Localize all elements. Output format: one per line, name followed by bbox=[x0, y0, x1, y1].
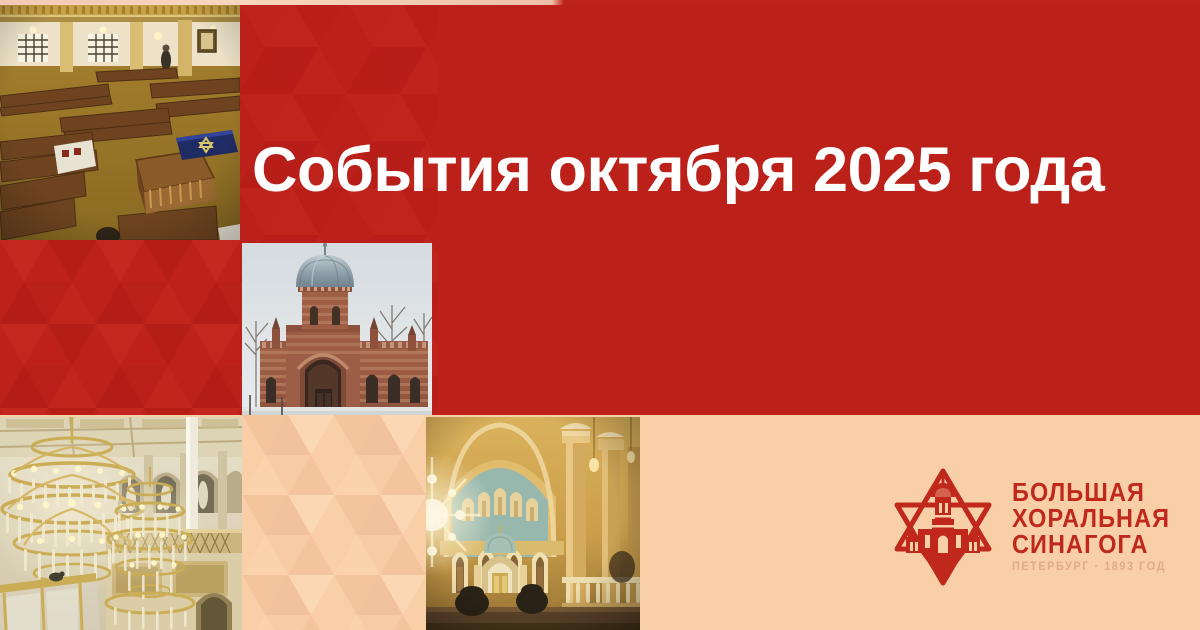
photo-chandeliers-gilded-hall bbox=[0, 417, 242, 630]
photo-synagogue-exterior-dome bbox=[242, 243, 432, 415]
brand-line-3: СИНАГОГА bbox=[1012, 532, 1170, 558]
star-of-david-synagogue-logo bbox=[884, 463, 1002, 591]
poster-canvas: События октября 2025 года bbox=[0, 0, 1200, 630]
photo-sanctuary-arches-congregation bbox=[426, 417, 640, 630]
top-edge-strip bbox=[0, 0, 1200, 5]
page-title: События октября 2025 года bbox=[252, 129, 1152, 211]
pattern-peach-triangles-bottom bbox=[242, 415, 426, 630]
brand-line-1: БОЛЬШАЯ bbox=[1012, 480, 1170, 506]
photo-synagogue-prayer-hall-pews bbox=[0, 0, 240, 240]
brand-tagline: ПЕТЕРБУРГ · 1893 ГОД bbox=[1012, 561, 1175, 574]
brand-logo: БОЛЬШАЯ ХОРАЛЬНАЯ СИНАГОГА ПЕТЕРБУРГ · 1… bbox=[884, 463, 1159, 591]
pattern-red-triangles-left bbox=[0, 240, 240, 416]
brand-line-2: ХОРАЛЬНАЯ bbox=[1012, 506, 1170, 532]
brand-wordmark: БОЛЬШАЯ ХОРАЛЬНАЯ СИНАГОГА ПЕТЕРБУРГ · 1… bbox=[1012, 480, 1184, 574]
